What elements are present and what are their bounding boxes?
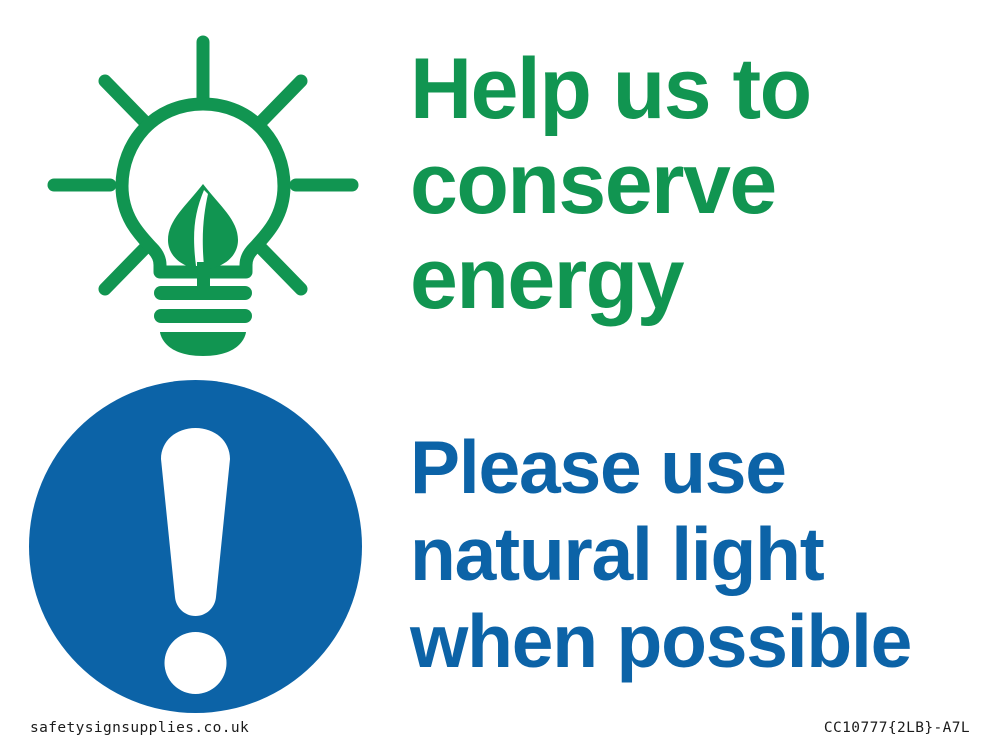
natural-light-message: Please use natural light when possible (410, 424, 980, 685)
energy-saving-bulb-icon (44, 34, 362, 356)
safety-sign: Help us to conserve energy Please use na… (0, 0, 1000, 749)
product-code: CC10777{2LB}-A7L (824, 720, 970, 736)
blue-message-line-2: natural light (410, 511, 980, 598)
blue-message-line-3: when possible (410, 598, 980, 685)
supplier-website: safetysignsupplies.co.uk (30, 720, 249, 736)
sign-footer: safetysignsupplies.co.uk CC10777{2LB}-A7… (0, 712, 1000, 749)
green-message-line-2: conserve (410, 137, 970, 232)
mandatory-exclamation-icon (29, 380, 362, 713)
blue-message-line-1: Please use (410, 424, 980, 511)
green-message-line-1: Help us to (410, 42, 970, 137)
conserve-energy-message: Help us to conserve energy (410, 42, 970, 327)
green-message-line-3: energy (410, 232, 970, 327)
